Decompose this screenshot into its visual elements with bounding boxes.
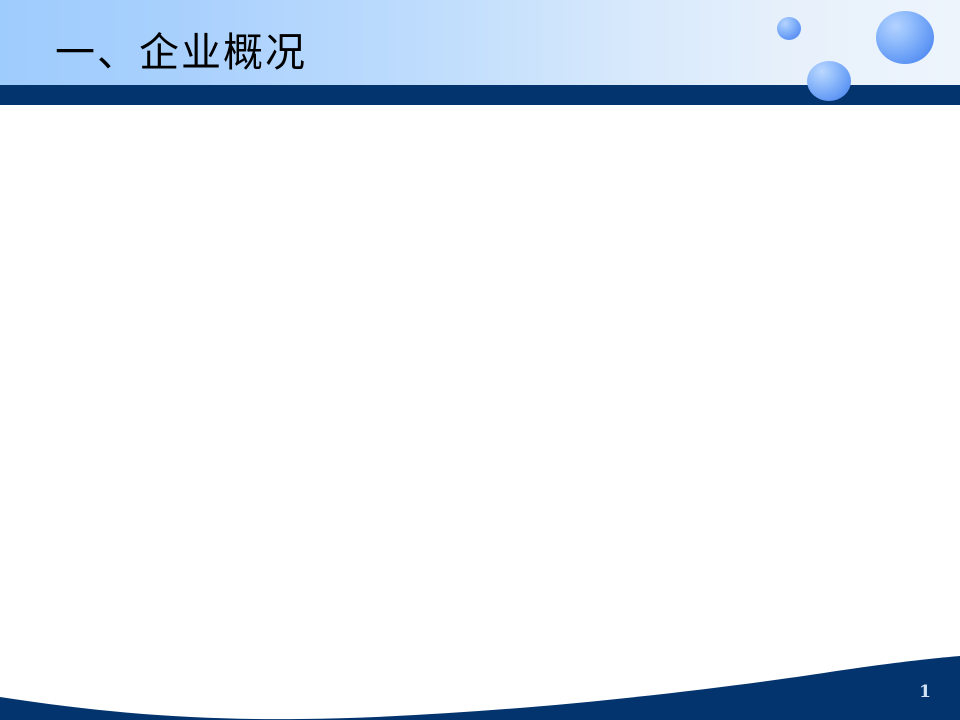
page-number: 1 <box>905 682 945 702</box>
bubble-large-icon <box>876 11 934 64</box>
slide-content-area <box>0 105 960 650</box>
slide-title: 一、企业概况 <box>55 27 307 79</box>
bubble-medium-icon <box>807 61 851 101</box>
presentation-slide: 一、企业概况 1 <box>0 0 960 720</box>
bubble-small-icon <box>777 17 801 40</box>
